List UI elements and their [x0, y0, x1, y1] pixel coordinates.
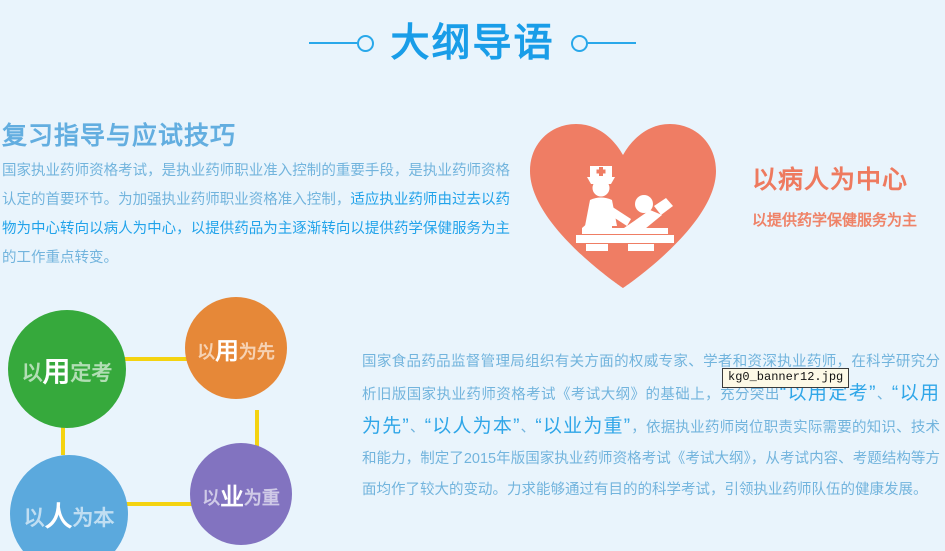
page-title-row: 大纲导语	[0, 14, 945, 72]
circle-orange[interactable]: 以用为先	[185, 297, 287, 399]
heart-title: 以病人为中心	[752, 168, 945, 193]
nurse-and-patient-icon	[566, 162, 680, 254]
circle-orange-label: 以用为先	[197, 331, 275, 366]
banner-canvas: 大纲导语 复习指导与应试技巧 国家执业药师资格考试，是执业药师职业准入控制的重要…	[0, 0, 945, 551]
circle-green-key: 用	[43, 349, 71, 389]
circle-green-suffix: 定考	[70, 362, 112, 385]
circle-blue-key: 人	[45, 494, 73, 534]
title-circle-right-icon	[571, 35, 588, 52]
right-separator-3: 、	[520, 420, 535, 436]
image-filename-tooltip: kg0_banner12.jpg	[722, 368, 849, 388]
right-separator-1: 、	[877, 387, 892, 403]
left-section-heading: 复习指导与应试技巧	[2, 116, 236, 152]
circle-blue-prefix: 以	[24, 507, 45, 530]
left-paragraph-part2: 的工作重点转变。	[2, 250, 118, 266]
title-line-left	[309, 42, 357, 44]
circle-orange-key: 用	[215, 331, 239, 366]
title-decoration-right	[571, 35, 636, 52]
circle-green-label: 以用定考	[22, 349, 113, 389]
circle-blue-suffix: 为本	[72, 507, 114, 530]
title-line-right	[588, 42, 636, 44]
circle-blue-label: 以人为本	[24, 494, 115, 534]
circle-purple-label: 以业为重	[202, 477, 280, 512]
heart-subtitle: 以提供药学保健服务为主	[752, 209, 945, 230]
circle-green[interactable]: 以用定考	[8, 310, 126, 428]
left-section-paragraph: 国家执业药师资格考试，是执业药师职业准入控制的重要手段，是执业药师资格认定的首要…	[2, 157, 510, 273]
circle-green-prefix: 以	[22, 362, 43, 385]
right-section-paragraph: 国家食品药品监督管理局组织有关方面的权威专家、学者和资深执业药师，在科学研究分析…	[362, 347, 940, 506]
circle-orange-suffix: 为先	[239, 342, 275, 362]
page-title: 大纲导语	[374, 24, 570, 63]
circle-purple[interactable]: 以业为重	[190, 443, 292, 545]
circle-orange-prefix: 以	[197, 342, 215, 362]
connector-blue-purple	[120, 502, 192, 506]
circle-purple-key: 业	[220, 477, 244, 512]
circle-purple-prefix: 以	[202, 488, 220, 508]
right-quote-3: “以人为本”	[425, 416, 521, 437]
right-separator-2: 、	[410, 420, 425, 436]
right-quote-4: “以业为重”	[535, 416, 631, 437]
heart-text-block: 以病人为中心 以提供药学保健服务为主	[752, 168, 945, 230]
circle-purple-suffix: 为重	[244, 488, 280, 508]
title-circle-left-icon	[357, 35, 374, 52]
circle-blue[interactable]: 以人为本	[10, 455, 128, 551]
heart-graphic	[528, 122, 718, 290]
title-decoration-left	[309, 35, 374, 52]
